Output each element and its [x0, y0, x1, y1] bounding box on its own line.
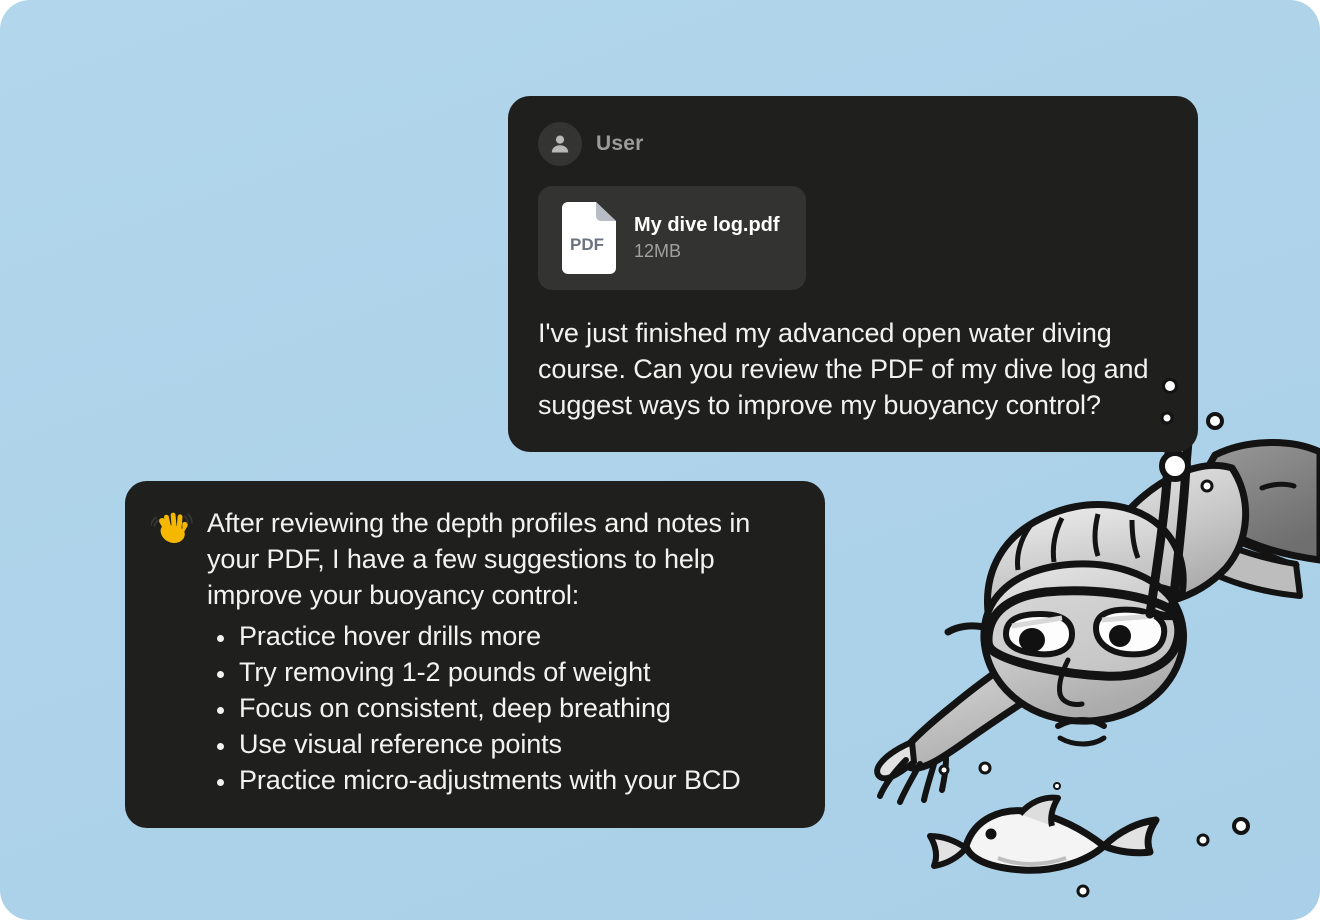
pdf-attachment-card[interactable]: PDF My dive log.pdf 12MB: [538, 186, 806, 290]
chat-conversation: User PDF My dive log.pdf 12MB I've just …: [0, 0, 1320, 920]
assistant-message-bubble: After reviewing the depth profiles and n…: [125, 481, 825, 828]
list-item: Focus on consistent, deep breathing: [213, 690, 795, 726]
list-item: Try removing 1-2 pounds of weight: [213, 654, 795, 690]
pdf-file-icon: PDF: [558, 202, 616, 274]
assistant-intro: After reviewing the depth profiles and n…: [151, 505, 795, 614]
overlay-air-bubbles: [1140, 370, 1230, 440]
suggestions-list: Practice hover drills more Try removing …: [151, 618, 795, 799]
list-item: Use visual reference points: [213, 726, 795, 762]
list-item: Practice hover drills more: [213, 618, 795, 654]
attachment-meta: My dive log.pdf 12MB: [634, 214, 780, 262]
list-item: Practice micro-adjustments with your BCD: [213, 762, 795, 798]
person-avatar-icon: [538, 122, 582, 166]
user-message-text: I've just finished my advanced open wate…: [538, 316, 1168, 424]
svg-text:PDF: PDF: [570, 235, 604, 254]
assistant-intro-text: After reviewing the depth profiles and n…: [207, 505, 795, 614]
waving-hand-emoji: [151, 505, 195, 549]
attachment-file-size: 12MB: [634, 241, 780, 262]
attachment-file-name: My dive log.pdf: [634, 214, 780, 237]
user-message-header: User: [538, 122, 1168, 166]
screenshot-canvas: User PDF My dive log.pdf 12MB I've just …: [0, 0, 1320, 920]
sender-label: User: [596, 132, 644, 156]
user-message-bubble: User PDF My dive log.pdf 12MB I've just …: [508, 96, 1198, 452]
